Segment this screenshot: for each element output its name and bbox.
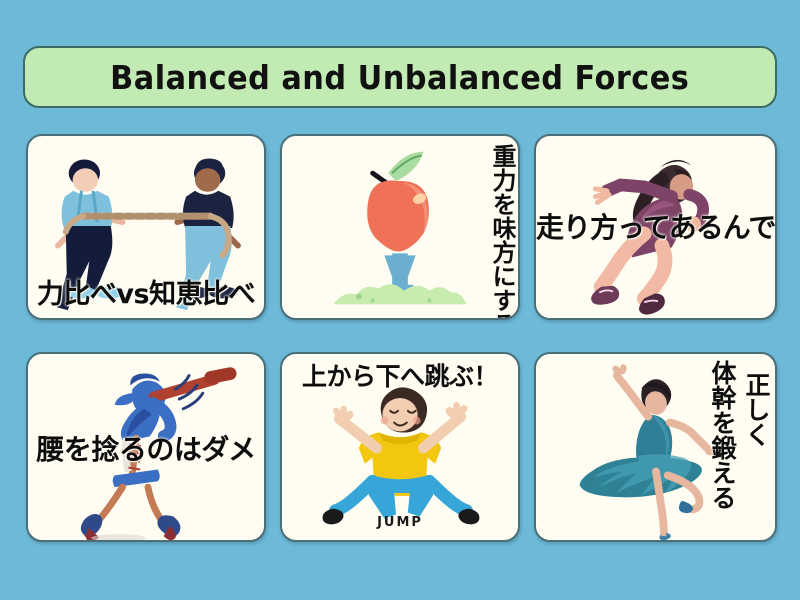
illustration-falling-apple <box>282 136 518 318</box>
illustration-ballet-dancer <box>536 354 775 540</box>
slide-canvas: Balanced and Unbalanced Forces <box>0 0 800 600</box>
title-banner: Balanced and Unbalanced Forces <box>23 46 777 108</box>
card-caption-left: 体幹を鍛える <box>710 360 736 510</box>
card-caption: 走り方ってあるんです <box>536 214 775 242</box>
card-caption-right: 正しく <box>744 372 770 447</box>
card-tug-of-war[interactable]: 力比べvs知恵比べ <box>26 134 266 320</box>
card-ballet-dancer[interactable]: 正しく 体幹を鍛える <box>534 352 777 542</box>
card-caption: 上から下へ跳ぶ！ <box>282 364 518 389</box>
card-falling-apple[interactable]: 重力を味方にする！ <box>280 134 520 320</box>
card-caption: 重力を味方にする！ <box>490 144 514 314</box>
card-jumping-boy[interactable]: 上から下へ跳ぶ！ JUMP <box>280 352 520 542</box>
page-title: Balanced and Unbalanced Forces <box>110 58 689 97</box>
card-caption: 腰を捻るのはダメ <box>28 436 264 464</box>
card-sprinter[interactable]: 走り方ってあるんです <box>534 134 777 320</box>
card-baseball-swing[interactable]: 腰を捻るのはダメ <box>26 352 266 542</box>
jump-label: JUMP <box>282 515 518 530</box>
card-caption: 力比べvs知恵比べ <box>28 281 264 308</box>
